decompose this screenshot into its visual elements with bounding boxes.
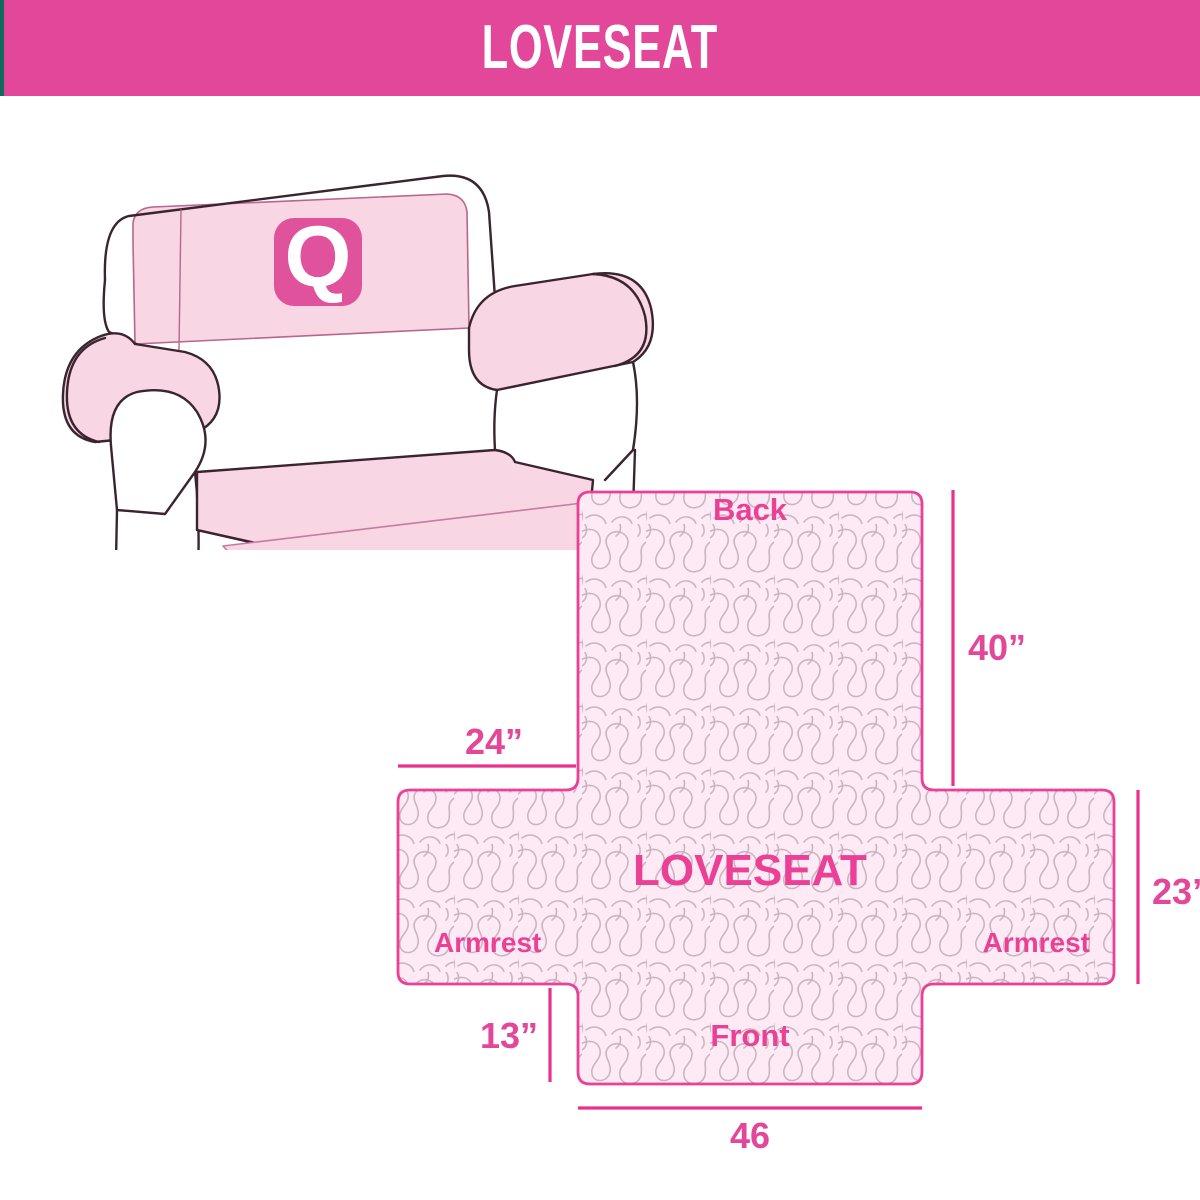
dimension-label-front-height: 13” bbox=[480, 1015, 538, 1056]
dimension-label-armrest-height: 23” bbox=[1152, 871, 1200, 912]
sofa-left-armrest-front bbox=[115, 510, 157, 550]
cover-layout-diagram: Back LOVESEAT Armrest Armrest Front 40” … bbox=[390, 460, 1200, 1160]
sofa-right-armrest-top bbox=[469, 273, 653, 390]
loveseat-size-chart-page: LOVESEAT bbox=[0, 0, 1200, 1200]
sofa-right-armrest-inner bbox=[494, 390, 497, 450]
panel-label-armrest-left: Armrest bbox=[434, 927, 541, 958]
dimension-label-front-width: 46 bbox=[730, 1115, 770, 1156]
cover-cross-shape bbox=[398, 492, 1114, 1084]
panel-label-center: LOVESEAT bbox=[633, 846, 867, 895]
header-banner: LOVESEAT bbox=[0, 0, 1200, 96]
panel-label-front: Front bbox=[710, 1018, 789, 1053]
logo-letter: Q bbox=[285, 209, 352, 305]
sofa-left-armrest-inner-roll bbox=[111, 390, 206, 514]
dimension-label-back-top-width: 24” bbox=[465, 721, 523, 762]
header-accent-stripe bbox=[0, 0, 4, 96]
panel-label-armrest-right: Armrest bbox=[983, 927, 1090, 958]
brand-logo: Q bbox=[274, 209, 362, 306]
panel-label-back: Back bbox=[713, 492, 788, 527]
dimension-label-back-height: 40” bbox=[968, 627, 1026, 668]
page-title: LOVESEAT bbox=[482, 17, 718, 79]
